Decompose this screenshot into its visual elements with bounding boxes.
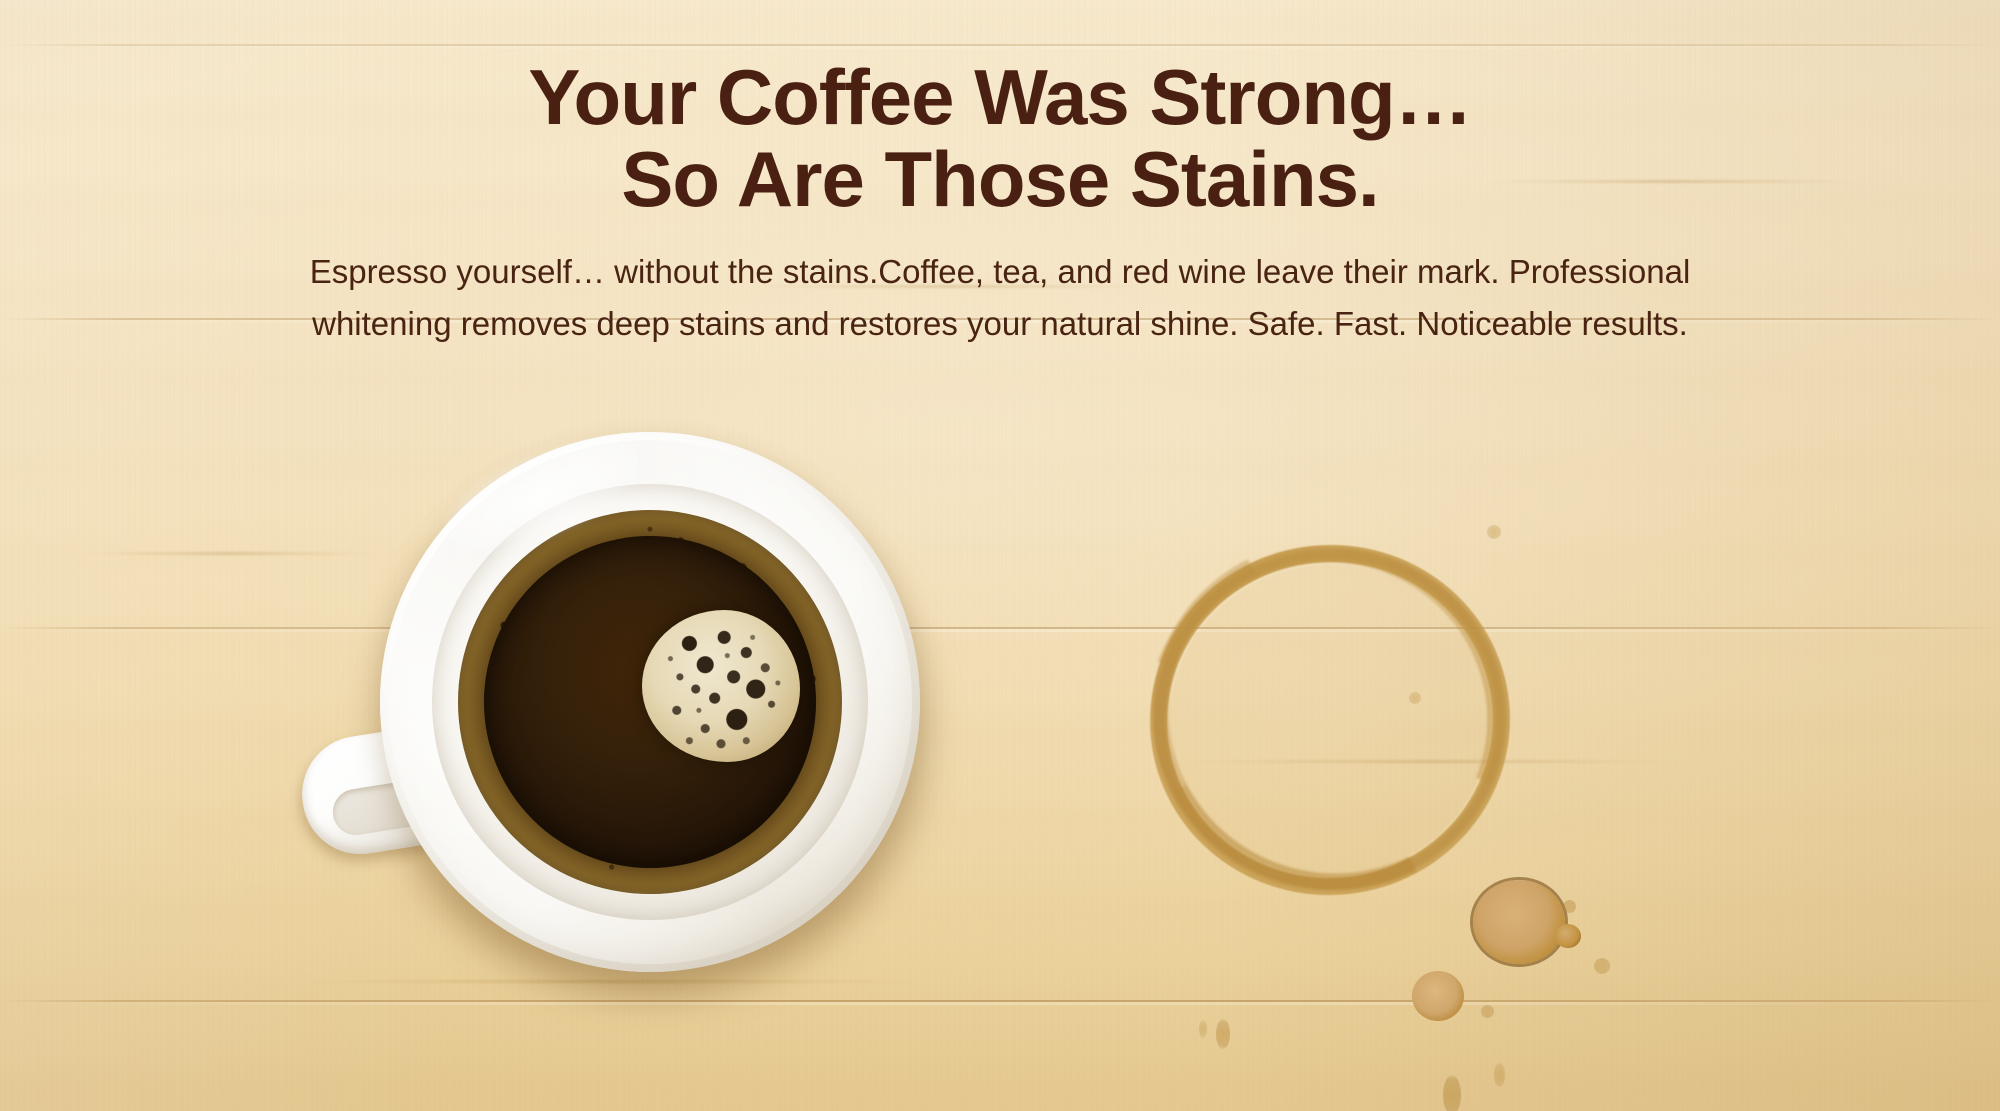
wood-plank-seam bbox=[0, 627, 2000, 629]
page-title: Your Coffee Was Strong… So Are Those Sta… bbox=[0, 56, 2000, 220]
droplet-small bbox=[1443, 1075, 1461, 1111]
wood-plank-seam bbox=[0, 44, 2000, 46]
droplet-medium bbox=[1412, 971, 1464, 1021]
foam-bubbles bbox=[642, 610, 800, 762]
wood-streak bbox=[80, 552, 380, 555]
hero-copy: Your Coffee Was Strong… So Are Those Sta… bbox=[0, 56, 2000, 350]
droplet-small bbox=[1409, 692, 1421, 704]
wood-plank-seam bbox=[0, 1000, 2000, 1002]
droplet-small bbox=[1481, 1005, 1494, 1018]
ring-arc-dark-upper bbox=[1089, 489, 1560, 956]
headline-line-2: So Are Those Stains. bbox=[0, 138, 2000, 220]
droplet-large bbox=[1473, 880, 1565, 964]
droplet-small bbox=[1199, 1020, 1207, 1038]
hero-banner: Your Coffee Was Strong… So Are Those Sta… bbox=[0, 0, 2000, 1111]
droplet-small bbox=[1594, 958, 1610, 974]
coffee-cup bbox=[380, 432, 920, 972]
hero-subcopy: Espresso yourself… without the stains.Co… bbox=[270, 246, 1730, 350]
foam-blob bbox=[642, 610, 800, 762]
droplet-small bbox=[1494, 1063, 1505, 1087]
coffee-ring-stain bbox=[1150, 545, 1510, 895]
droplet-small bbox=[1487, 525, 1501, 539]
droplet-small bbox=[1563, 900, 1576, 913]
headline-line-1: Your Coffee Was Strong… bbox=[528, 53, 1471, 141]
droplet-small bbox=[1216, 1019, 1230, 1049]
